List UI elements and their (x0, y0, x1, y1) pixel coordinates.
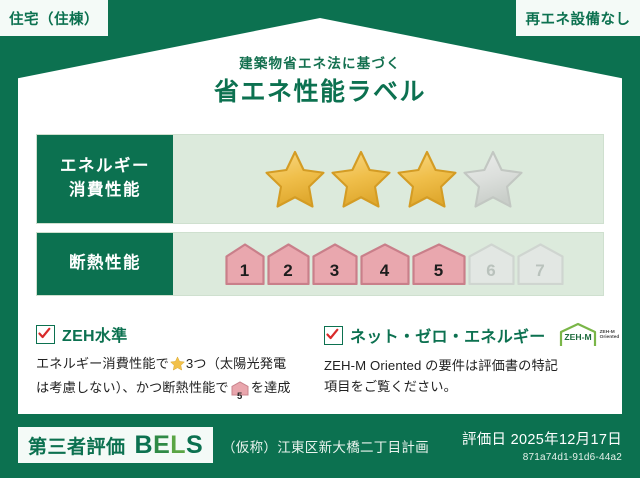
star-filled-icon (264, 149, 326, 209)
inline-star-icon (170, 356, 185, 377)
insulation-level-house: 4 (360, 243, 410, 285)
notes-section: ZEH水準 エネルギー消費性能で3つ（太陽光発電 は考慮しない）、かつ断熱性能で… (36, 322, 612, 403)
zeh-m-logo-sub2: Oriented (600, 335, 620, 340)
star-rating (264, 149, 524, 209)
checkmark-icon (36, 325, 55, 344)
bels-letter-e: E (153, 431, 170, 459)
star-empty-icon (462, 149, 524, 209)
insulation-level-scale: 1234567 (225, 243, 564, 285)
insulation-level-number: 7 (517, 262, 564, 279)
insulation-level-house: 3 (312, 243, 358, 285)
insulation-level-number: 5 (412, 262, 466, 279)
bels-letter-s: S (186, 431, 203, 459)
row-energy-body (173, 135, 603, 223)
evaluation-id: 871a74d1-91d6-44a2 (462, 452, 622, 463)
insulation-level-house: 1 (225, 243, 265, 285)
project-name: （仮称）江東区新大橋二丁目計画 (222, 436, 429, 456)
row-insulation-body: 1234567 (173, 233, 603, 295)
insulation-level-house: 2 (267, 243, 310, 285)
rating-rows: エネルギー 消費性能 断熱性能 1234567 (36, 134, 604, 304)
note-zeh-standard-body: エネルギー消費性能で3つ（太陽光発電 は考慮しない）、かつ断熱性能で5を達成 (36, 353, 310, 403)
bels-third-party-label: 第三者評価 (28, 432, 126, 459)
page-title: 建築物省エネ法に基づく 省エネ性能ラベル (0, 56, 640, 107)
badge-renewable-energy: 再エネ設備なし (516, 0, 640, 36)
insulation-level-house: 7 (517, 243, 564, 285)
inline-house-icon: 5 (231, 381, 249, 402)
bels-logo-box: 第三者評価 BELS (18, 427, 213, 463)
row-insulation-performance: 断熱性能 1234567 (36, 232, 604, 296)
note-right-line1: ZEH-M Oriented の要件は評価書の特記 (324, 358, 558, 373)
badge-renewable-energy-label: 再エネ設備なし (526, 8, 631, 29)
note-net-zero-energy-body: ZEH-M Oriented の要件は評価書の特記 項目をご覧ください。 (324, 355, 598, 398)
inline-house-number: 5 (231, 392, 249, 402)
bels-letter-b: B (135, 431, 154, 459)
bels-wordmark: BELS (135, 433, 204, 458)
star-filled-icon (330, 149, 392, 209)
insulation-level-number: 4 (360, 262, 410, 279)
badge-building-type: 住宅（住棟） (0, 0, 108, 36)
title-subtitle: 建築物省エネ法に基づく (0, 56, 640, 72)
title-main: 省エネ性能ラベル (0, 79, 640, 107)
energy-performance-label: 住宅（住棟） 再エネ設備なし 建築物省エネ法に基づく 省エネ性能ラベル エネルギ… (0, 0, 640, 478)
row-energy-label-line1: エネルギー (60, 155, 150, 179)
badge-building-type-label: 住宅（住棟） (9, 8, 99, 29)
svg-text:ZEH-M: ZEH-M (564, 332, 591, 342)
insulation-level-number: 1 (225, 262, 265, 279)
note-zeh-standard-title: ZEH水準 (62, 322, 128, 346)
bels-letter-l: L (170, 431, 186, 459)
note-zeh-standard: ZEH水準 エネルギー消費性能で3つ（太陽光発電 は考慮しない）、かつ断熱性能で… (36, 322, 324, 403)
row-energy-label: エネルギー 消費性能 (37, 135, 173, 223)
evaluation-date: 評価日 2025年12月17日 (462, 428, 622, 449)
checkmark-icon (324, 326, 343, 345)
note-text-star: 3つ（太陽光発電 (186, 356, 286, 371)
zeh-m-logo: ZEH-M ZEH-M Oriented (558, 322, 620, 348)
insulation-level-house: 6 (468, 243, 515, 285)
note-text-part1: エネルギー消費性能で (36, 356, 169, 371)
note-net-zero-energy-title: ネット・ゼロ・エネルギー (350, 323, 546, 347)
insulation-level-number: 2 (267, 262, 310, 279)
note-zeh-standard-head: ZEH水準 (36, 322, 310, 346)
note-net-zero-energy: ネット・ゼロ・エネルギー ZEH-M ZEH-M Oriented ZEH-M … (324, 322, 612, 403)
row-insulation-label-line1: 断熱性能 (69, 252, 141, 276)
row-energy-performance: エネルギー 消費性能 (36, 134, 604, 224)
insulation-level-number: 3 (312, 262, 358, 279)
note-text-part2: は考慮しない）、かつ断熱性能で (36, 380, 229, 395)
row-energy-label-line2: 消費性能 (69, 179, 141, 203)
star-filled-icon (396, 149, 458, 209)
note-right-line2: 項目をご覧ください。 (324, 379, 457, 394)
note-net-zero-energy-head: ネット・ゼロ・エネルギー ZEH-M ZEH-M Oriented (324, 322, 598, 348)
insulation-level-house: 5 (412, 243, 466, 285)
insulation-level-number: 6 (468, 262, 515, 279)
zeh-m-house-icon: ZEH-M (558, 322, 598, 348)
note-text-part3: を達成 (251, 380, 291, 395)
evaluation-info: 評価日 2025年12月17日 871a74d1-91d6-44a2 (462, 428, 622, 463)
row-insulation-label: 断熱性能 (37, 233, 173, 295)
footer: 第三者評価 BELS （仮称）江東区新大橋二丁目計画 評価日 2025年12月1… (0, 414, 640, 478)
